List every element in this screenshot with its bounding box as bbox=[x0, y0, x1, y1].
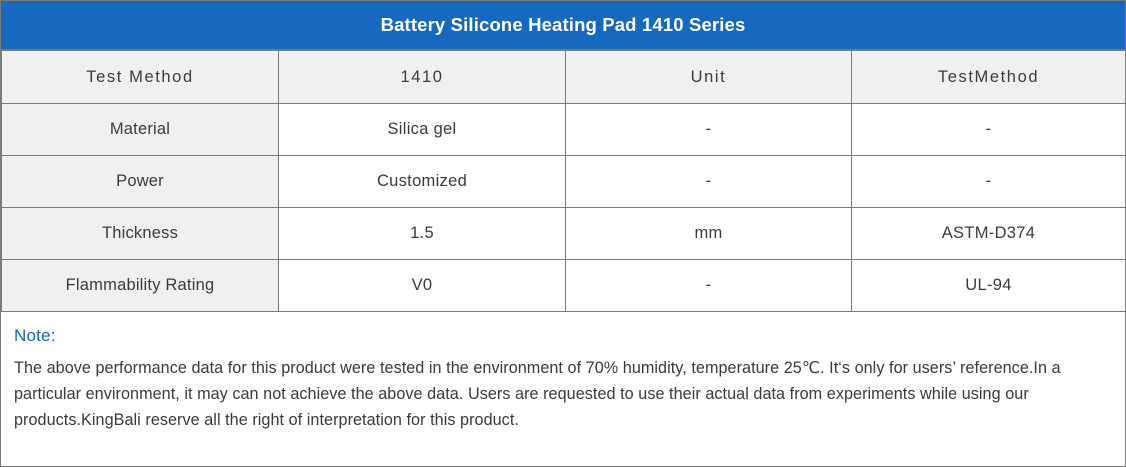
product-spec-sheet: Battery Silicone Heating Pad 1410 Series… bbox=[0, 0, 1126, 467]
row-value-flammability-rating: V0 bbox=[279, 260, 566, 312]
row-testmethod-material: - bbox=[852, 104, 1126, 156]
column-header-unit: Unit bbox=[566, 51, 852, 104]
page-title: Battery Silicone Heating Pad 1410 Series bbox=[1, 1, 1125, 50]
table-row: Power Customized - - bbox=[2, 156, 1126, 208]
row-unit-material: - bbox=[566, 104, 852, 156]
note-heading: Note: bbox=[14, 326, 1112, 346]
note-section: Note: The above performance data for thi… bbox=[1, 312, 1125, 444]
row-property-power: Power bbox=[2, 156, 279, 208]
row-value-power: Customized bbox=[279, 156, 566, 208]
column-header-testmethod: TestMethod bbox=[852, 51, 1126, 104]
table-row: Thickness 1.5 mm ASTM-D374 bbox=[2, 208, 1126, 260]
row-value-material: Silica gel bbox=[279, 104, 566, 156]
column-header-test-method: Test Method bbox=[2, 51, 279, 104]
specification-table: Test Method 1410 Unit TestMethod Materia… bbox=[1, 50, 1126, 312]
row-unit-thickness: mm bbox=[566, 208, 852, 260]
note-body: The above performance data for this prod… bbox=[14, 355, 1112, 434]
row-unit-power: - bbox=[566, 156, 852, 208]
column-header-model: 1410 bbox=[279, 51, 566, 104]
table-row: Flammability Rating V0 - UL-94 bbox=[2, 260, 1126, 312]
row-property-flammability-rating: Flammability Rating bbox=[2, 260, 279, 312]
row-property-material: Material bbox=[2, 104, 279, 156]
row-testmethod-thickness: ASTM-D374 bbox=[852, 208, 1126, 260]
row-testmethod-flammability-rating: UL-94 bbox=[852, 260, 1126, 312]
row-testmethod-power: - bbox=[852, 156, 1126, 208]
row-property-thickness: Thickness bbox=[2, 208, 279, 260]
row-value-thickness: 1.5 bbox=[279, 208, 566, 260]
table-row: Material Silica gel - - bbox=[2, 104, 1126, 156]
table-header-row: Test Method 1410 Unit TestMethod bbox=[2, 51, 1126, 104]
row-unit-flammability-rating: - bbox=[566, 260, 852, 312]
